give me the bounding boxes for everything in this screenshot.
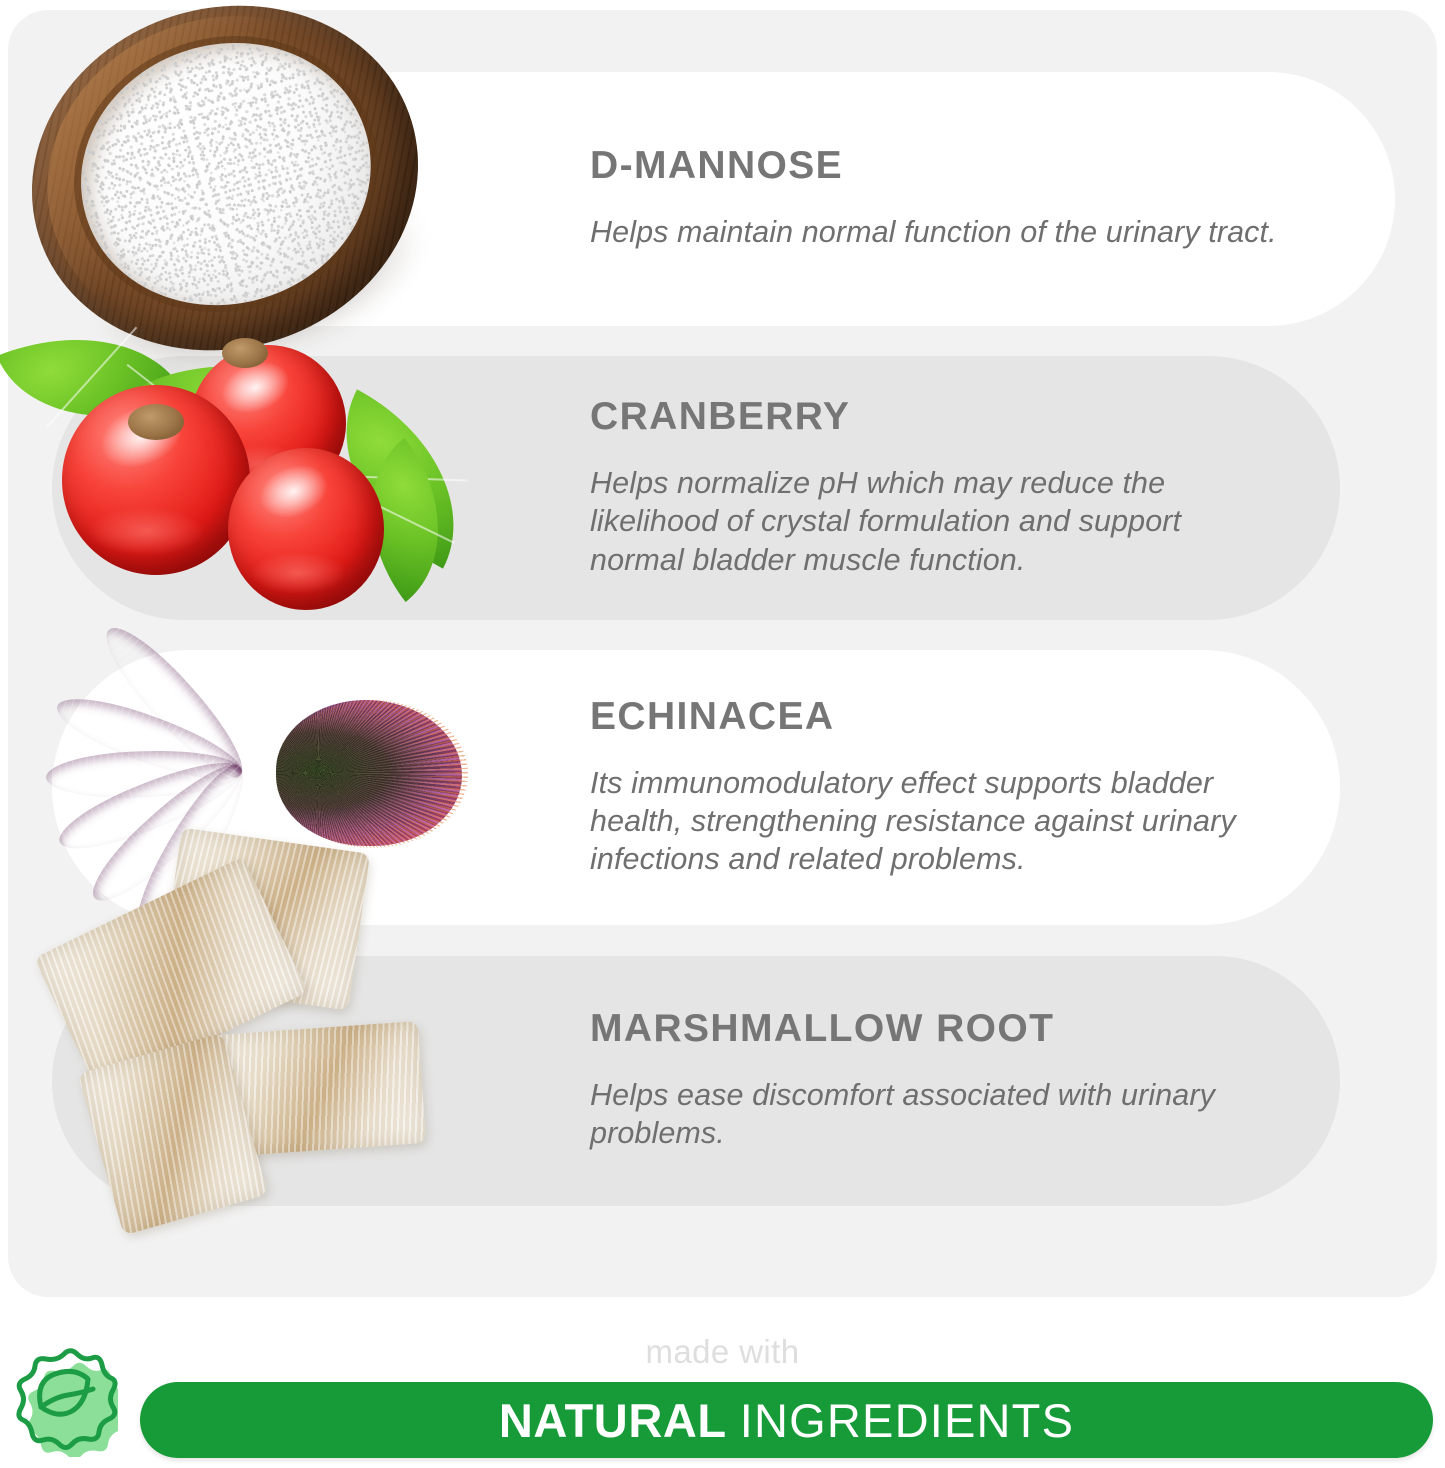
ingredient-description: Helps ease discomfort associated with ur… [590, 1076, 1280, 1152]
ingredient-title: ECHINACEA [590, 697, 1280, 738]
card-body: D-MANNOSE Helps maintain normal function… [52, 146, 1395, 251]
ingredient-description: Its immunomodulatory effect supports bla… [590, 764, 1280, 878]
made-with-label: made with [0, 1333, 1445, 1371]
ingredient-description: Helps maintain normal function of the ur… [590, 213, 1300, 251]
leaf-badge-icon [8, 1345, 118, 1457]
infographic-root: D-MANNOSE Helps maintain normal function… [0, 0, 1445, 1468]
card-body: MARSHMALLOW ROOT Helps ease discomfort a… [52, 1009, 1340, 1152]
banner-strong-text: NATURAL [499, 1393, 727, 1448]
ingredient-title: CRANBERRY [590, 397, 1280, 438]
ingredient-card-cranberry: CRANBERRY Helps normalize pH which may r… [52, 356, 1340, 620]
ingredient-card-marshmallow-root: MARSHMALLOW ROOT Helps ease discomfort a… [52, 956, 1340, 1206]
ingredient-title: MARSHMALLOW ROOT [590, 1009, 1280, 1050]
ingredient-card-d-mannose: D-MANNOSE Helps maintain normal function… [52, 72, 1395, 326]
card-body: CRANBERRY Helps normalize pH which may r… [52, 397, 1340, 578]
ingredient-card-echinacea: ECHINACEA Its immunomodulatory effect su… [52, 650, 1340, 925]
natural-ingredients-banner: NATURAL INGREDIENTS [140, 1382, 1433, 1458]
ingredient-description: Helps normalize pH which may reduce the … [590, 464, 1280, 578]
card-body: ECHINACEA Its immunomodulatory effect su… [52, 697, 1340, 878]
ingredient-title: D-MANNOSE [590, 146, 1335, 187]
banner-light-text: INGREDIENTS [740, 1393, 1074, 1448]
